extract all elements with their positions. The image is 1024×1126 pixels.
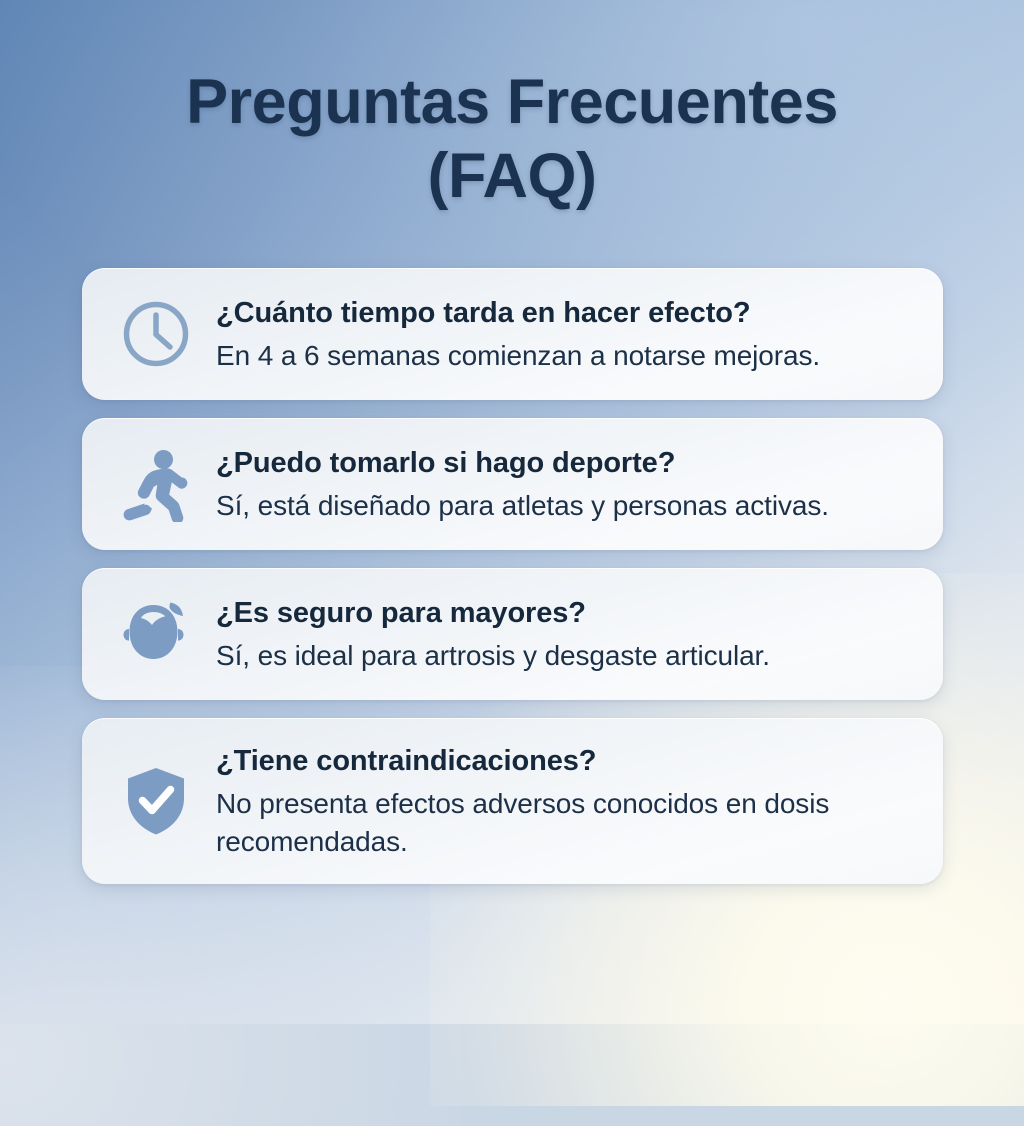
faq-answer: Sí, está diseñado para atletas y persona…: [216, 487, 917, 524]
faq-item[interactable]: ¿Puedo tomarlo si hago deporte? Sí, está…: [82, 418, 943, 550]
page-title-line-1: Preguntas Frecuentes: [0, 66, 1024, 140]
faq-item-text: ¿Puedo tomarlo si hago deporte? Sí, está…: [216, 444, 917, 525]
page-title-line-2: (FAQ): [0, 140, 1024, 214]
faq-question: ¿Puedo tomarlo si hago deporte?: [216, 446, 917, 481]
faq-question: ¿Tiene contraindicaciones?: [216, 744, 917, 779]
faq-item[interactable]: ¿Tiene contraindicaciones? No presenta e…: [82, 718, 943, 884]
faq-item-text: ¿Cuánto tiempo tarda en hacer efecto? En…: [216, 294, 917, 375]
faq-answer: No presenta efectos adversos conocidos e…: [216, 785, 917, 859]
faq-answer: En 4 a 6 semanas comienzan a notarse mej…: [216, 337, 917, 374]
faq-item[interactable]: ¿Cuánto tiempo tarda en hacer efecto? En…: [82, 268, 943, 400]
faq-item-text: ¿Es seguro para mayores? Sí, es ideal pa…: [216, 594, 917, 675]
clock-icon: [110, 288, 202, 380]
runner-icon: [110, 438, 202, 530]
faq-answer: Sí, es ideal para artrosis y desgaste ar…: [216, 637, 917, 674]
page-title: Preguntas Frecuentes (FAQ): [0, 66, 1024, 213]
faq-item[interactable]: ¿Es seguro para mayores? Sí, es ideal pa…: [82, 568, 943, 700]
faq-infographic: Preguntas Frecuentes (FAQ) ¿Cuánto tiemp…: [0, 0, 1024, 1024]
faq-question: ¿Es seguro para mayores?: [216, 596, 917, 631]
faq-item-text: ¿Tiene contraindicaciones? No presenta e…: [216, 742, 917, 860]
elderly-face-icon: [110, 588, 202, 680]
shield-check-icon: [110, 755, 202, 847]
faq-list: ¿Cuánto tiempo tarda en hacer efecto? En…: [82, 268, 943, 902]
faq-question: ¿Cuánto tiempo tarda en hacer efecto?: [216, 296, 917, 331]
